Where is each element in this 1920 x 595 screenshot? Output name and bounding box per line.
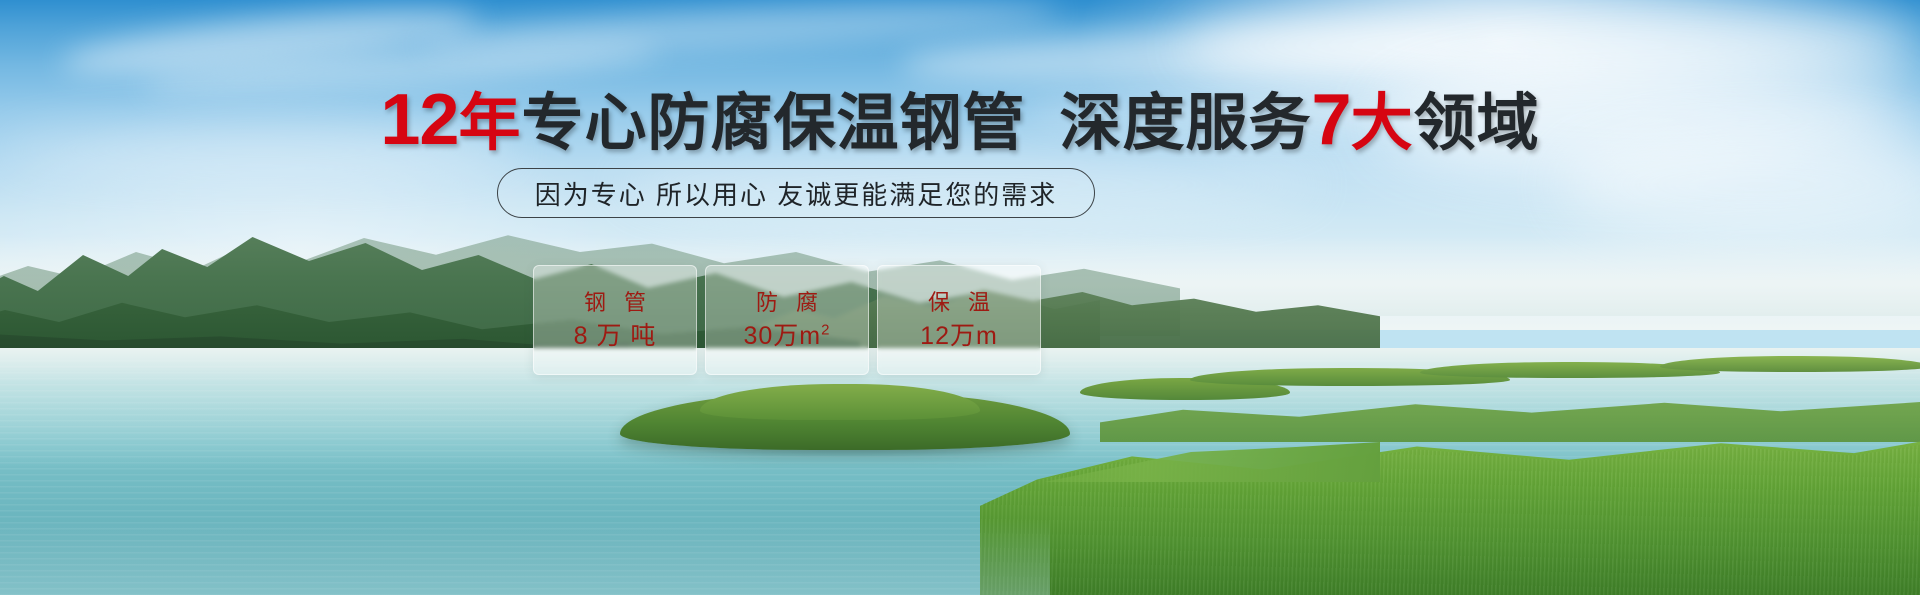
stat-card-steel-pipe[interactable]: 钢 管 8 万 吨 [533, 265, 697, 375]
stat-card-value: 12万m [920, 324, 998, 349]
stat-card-group: 钢 管 8 万 吨 防 腐 30万m2 保 温 12万m [533, 265, 1041, 375]
headline-years-number: 12 [380, 80, 458, 160]
grass-texture [980, 440, 1920, 595]
headline-years-unit: 年 [458, 89, 521, 158]
headline-fields-number: 7 [1312, 80, 1351, 160]
stat-card-value-main: 30万m [744, 322, 822, 350]
banner-headline: 12年专心防腐保温钢管深度服务7大领域 [0, 84, 1920, 156]
headline-text-primary: 专心防腐保温钢管 [522, 89, 1026, 158]
stat-card-anticorrosion[interactable]: 防 腐 30万m2 [705, 265, 869, 375]
stat-card-value: 30万m2 [744, 324, 831, 349]
stat-card-value-superscript: 2 [821, 321, 830, 338]
stat-card-insulation[interactable]: 保 温 12万m [877, 265, 1041, 375]
stat-card-value-main: 8 万 吨 [574, 322, 657, 350]
stat-card-label: 保 温 [922, 292, 996, 314]
hero-banner: 12年专心防腐保温钢管深度服务7大领域 因为专心 所以用心 友诚更能满足您的需求… [0, 0, 1920, 595]
stat-card-value: 8 万 吨 [574, 324, 657, 349]
headline-text-tertiary: 领域 [1414, 89, 1540, 158]
stat-card-label: 防 腐 [750, 292, 824, 314]
stat-card-value-main: 12万m [920, 322, 998, 350]
headline-fields-unit: 大 [1351, 89, 1414, 158]
banner-subtitle-text: 因为专心 所以用心 友诚更能满足您的需求 [535, 175, 1057, 212]
stat-card-label: 钢 管 [578, 292, 652, 314]
headline-text-secondary: 深度服务 [1060, 89, 1312, 158]
islet-far [1660, 356, 1920, 372]
water-bottom-glow [0, 520, 1050, 595]
banner-subtitle-pill: 因为专心 所以用心 友诚更能满足您的需求 [497, 168, 1095, 218]
